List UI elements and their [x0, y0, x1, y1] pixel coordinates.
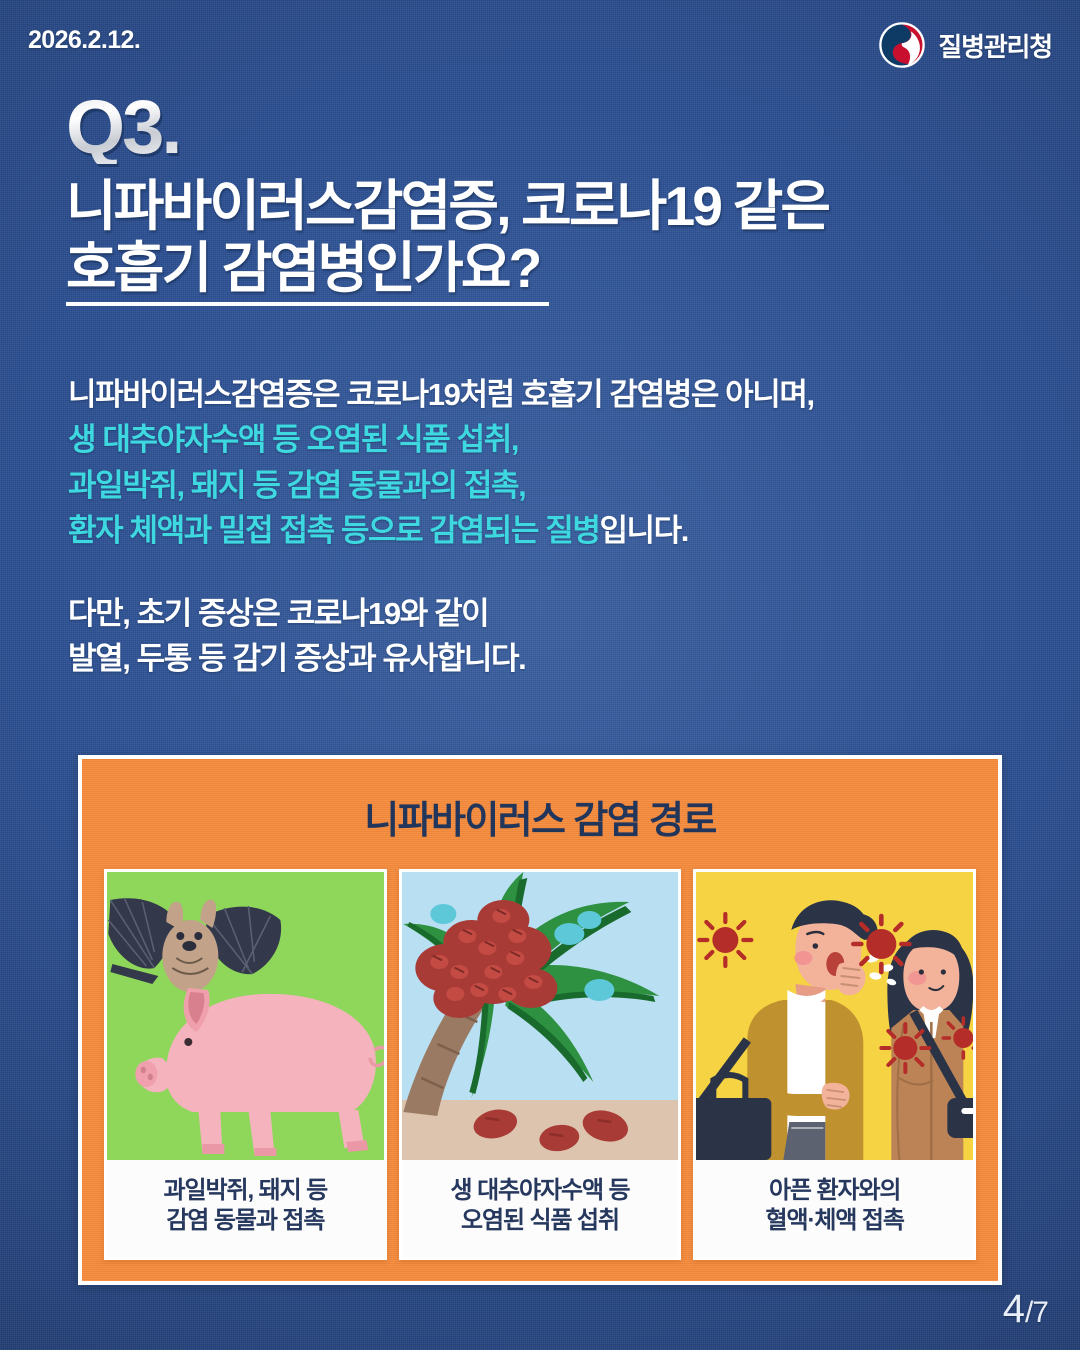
headline-line-1: 니파바이러스감염증, 코로나19 같은 [66, 176, 1016, 238]
korea-government-taeguk-emblem-icon [879, 22, 925, 68]
question-number: Q3. [66, 92, 180, 164]
body-line-5: 다만, 초기 증상은 코로나19와 같이 [68, 591, 998, 636]
caption-line-2: 오염된 식품 섭취 [408, 1206, 673, 1236]
page-title: 니파바이러스감염증, 코로나19 같은 호흡기 감염병인가요? [66, 176, 1016, 306]
route-card-contaminated-food: 생 대추야자수액 등 오염된 식품 섭취 [399, 869, 682, 1260]
page-indicator: 4 /7 [1003, 1287, 1048, 1332]
route-card-caption: 아픈 환자와의 혈액·체액 접촉 [696, 1160, 973, 1257]
caption-line-2: 혈액·체액 접촉 [702, 1206, 967, 1236]
caption-line-2: 감염 동물과 접촉 [113, 1206, 378, 1236]
body-line-4: 환자 체액과 밀접 접촉 등으로 감염되는 질병입니다. [68, 508, 998, 553]
agency-brand: 질병관리청 [879, 22, 1052, 68]
page-total: /7 [1025, 1296, 1048, 1330]
route-card-caption: 생 대추야자수액 등 오염된 식품 섭취 [402, 1160, 679, 1257]
title-block: Q3. 니파바이러스감염증, 코로나19 같은 호흡기 감염병인가요? [66, 92, 1016, 306]
body-line-4-highlight: 환자 체액과 밀접 접촉 등으로 감염되는 질병 [68, 513, 599, 548]
transmission-routes-panel: 니파바이러스 감염 경로 [78, 755, 1002, 1285]
route-card-animal-contact: 과일박쥐, 돼지 등 감염 동물과 접촉 [104, 869, 387, 1260]
fruit-bat-and-pig-illustration [107, 872, 384, 1160]
body-line-3-highlight: 과일박쥐, 돼지 등 감염 동물과의 접촉, [68, 463, 998, 508]
publish-date: 2026.2.12. [28, 26, 140, 55]
body-paragraph-2: 다만, 초기 증상은 코로나19와 같이 발열, 두통 등 감기 증상과 유사합… [68, 591, 998, 682]
body-line-2-highlight: 생 대추야자수액 등 오염된 식품 섭취, [68, 417, 998, 462]
route-card-caption: 과일박쥐, 돼지 등 감염 동물과 접촉 [107, 1160, 384, 1257]
page-current: 4 [1003, 1287, 1024, 1332]
body-text: 니파바이러스감염증은 코로나19처럼 호흡기 감염병은 아니며, 생 대추야자수… [68, 372, 998, 682]
caption-line-1: 생 대추야자수액 등 [408, 1176, 673, 1206]
body-line-6: 발열, 두통 등 감기 증상과 유사합니다. [68, 636, 998, 681]
agency-name: 질병관리청 [938, 27, 1052, 64]
date-palm-tree-illustration [402, 872, 679, 1160]
panel-heading: 니파바이러스 감염 경로 [82, 759, 998, 844]
header-bar: 2026.2.12. 질병관리청 [0, 0, 1080, 92]
body-line-4-tail: 입니다. [599, 513, 688, 548]
route-card-list: 과일박쥐, 돼지 등 감염 동물과 접촉 [82, 869, 998, 1260]
body-line-1: 니파바이러스감염증은 코로나19처럼 호흡기 감염병은 아니며, [68, 372, 998, 417]
route-card-patient-contact: 아픈 환자와의 혈액·체액 접촉 [693, 869, 976, 1260]
caption-line-1: 아픈 환자와의 [702, 1176, 967, 1206]
caption-line-1: 과일박쥐, 돼지 등 [113, 1176, 378, 1206]
headline-line-2: 호흡기 감염병인가요? [66, 238, 549, 307]
coughing-patient-and-person-illustration [696, 872, 973, 1160]
